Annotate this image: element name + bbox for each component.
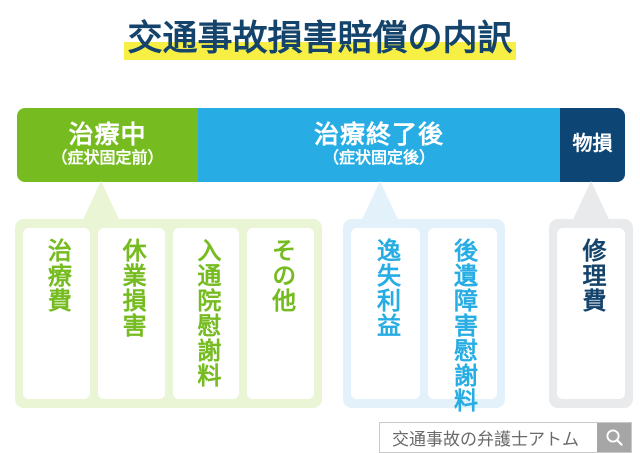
item-label: 逸失利益 (373, 238, 399, 338)
phase-treating-main: 治療中 (68, 122, 146, 149)
item-card: 後遺障害慰謝料 (428, 228, 497, 399)
item-label: その他 (268, 238, 294, 313)
item-label: 後遺障害慰謝料 (450, 238, 476, 413)
page-title-text: 交通事故損害賠償の内訳 (124, 21, 515, 56)
phase-after-sub: （症状固定後） (323, 150, 435, 168)
item-label: 入通院慰謝料 (193, 238, 219, 388)
phase-segment-treating: 治療中 （症状固定前） (17, 108, 198, 182)
phase-segment-property-damage: 物損 (560, 108, 625, 182)
phase-segment-after-treatment: 治療終了後 （症状固定後） (198, 108, 560, 182)
item-label: 休業損害 (118, 238, 144, 338)
item-label: 修理費 (578, 238, 604, 313)
group-treating-items: 治療費 休業損害 入通院慰謝料 その他 (15, 219, 322, 408)
item-card: その他 (247, 228, 314, 399)
phase-after-main: 治療終了後 (314, 122, 444, 149)
phase-bar: 治療中 （症状固定前） 治療終了後 （症状固定後） 物損 (17, 108, 625, 182)
item-card: 修理費 (557, 228, 625, 399)
item-card: 治療費 (23, 228, 90, 399)
page-title: 交通事故損害賠償の内訳 (0, 8, 640, 68)
phase-property-main: 物損 (573, 134, 613, 156)
item-label: 治療費 (43, 238, 69, 313)
search-input[interactable]: 交通事故の弁護士アトム (380, 423, 597, 452)
phase-treating-sub: （症状固定前） (51, 150, 163, 168)
item-card: 休業損害 (98, 228, 165, 399)
group-after-treatment-items: 逸失利益 後遺障害慰謝料 (343, 219, 505, 408)
item-card: 入通院慰謝料 (173, 228, 240, 399)
item-card: 逸失利益 (351, 228, 420, 399)
group-property-damage-items: 修理費 (549, 219, 633, 408)
search-button[interactable] (597, 423, 631, 452)
search-icon (605, 428, 624, 447)
search-bar[interactable]: 交通事故の弁護士アトム (379, 422, 632, 453)
